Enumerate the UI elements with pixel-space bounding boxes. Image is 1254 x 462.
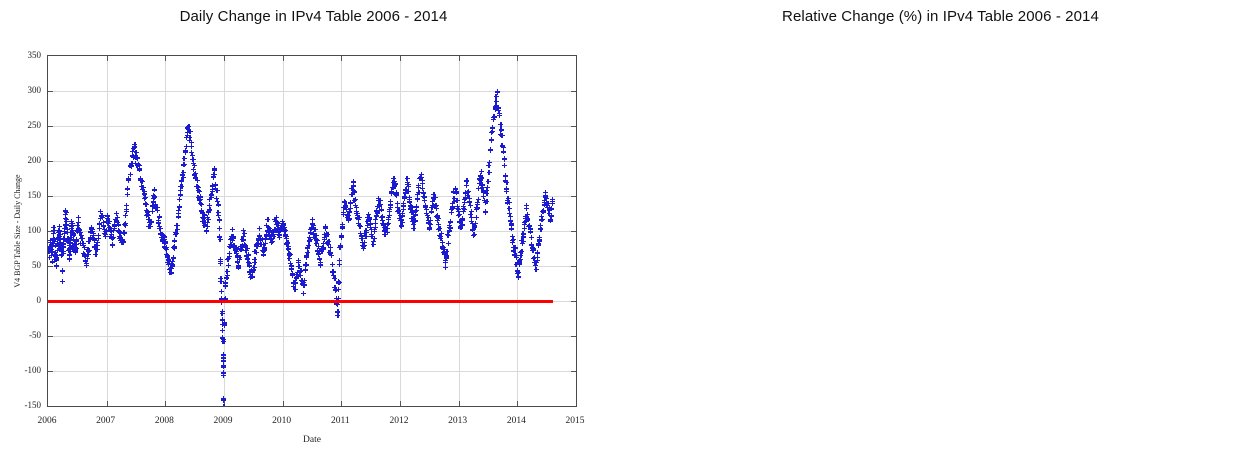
gridline-vertical [517, 56, 518, 406]
x-tick-label: 2007 [96, 416, 115, 426]
y-tick-mark [571, 91, 576, 92]
y-tick-mark [48, 371, 53, 372]
y-tick-mark [571, 301, 576, 302]
y-tick-mark [48, 266, 53, 267]
y-tick-mark [571, 266, 576, 267]
y-tick-label: 150 [28, 190, 42, 200]
y-tick-mark [48, 126, 53, 127]
y-tick-label: -150 [25, 400, 42, 410]
figure-page: Daily Change in IPv4 Table 2006 - 2014 V… [0, 0, 1254, 462]
x-tick-mark [341, 401, 342, 406]
y-tick-mark [48, 336, 53, 337]
y-tick-label: 250 [28, 120, 42, 130]
y-axis-title-daily-change: V4 BGP Table Size - Daily Change [13, 174, 22, 287]
y-tick-label: 300 [28, 85, 42, 95]
y-tick-label: 200 [28, 155, 42, 165]
y-tick-mark [571, 126, 576, 127]
y-tick-mark [48, 161, 53, 162]
y-tick-mark [571, 231, 576, 232]
y-tick-label: -50 [29, 330, 41, 340]
x-tick-mark [517, 56, 518, 61]
gridline-horizontal [48, 161, 576, 162]
gridline-vertical [400, 56, 401, 406]
x-tick-mark [107, 56, 108, 61]
y-tick-label: 350 [28, 50, 42, 60]
gridline-vertical [341, 56, 342, 406]
gridline-vertical [459, 56, 460, 406]
x-tick-mark [224, 56, 225, 61]
x-tick-label: 2015 [566, 416, 585, 426]
y-tick-label: 50 [32, 260, 41, 270]
y-tick-mark [48, 196, 53, 197]
x-tick-mark [517, 401, 518, 406]
gridline-horizontal [48, 126, 576, 127]
x-tick-mark [283, 401, 284, 406]
x-tick-mark [165, 56, 166, 61]
gridline-horizontal [48, 336, 576, 337]
x-tick-mark [400, 401, 401, 406]
x-tick-label: 2008 [155, 416, 174, 426]
y-tick-label: 0 [37, 295, 42, 305]
x-tick-mark [283, 56, 284, 61]
x-tick-label: 2009 [214, 416, 233, 426]
x-tick-label: 2012 [390, 416, 409, 426]
gridline-vertical [165, 56, 166, 406]
x-tick-label: 2011 [331, 416, 350, 426]
x-tick-mark [165, 401, 166, 406]
chart-panel-daily-change: Daily Change in IPv4 Table 2006 - 2014 V… [0, 0, 627, 462]
x-tick-label: 2014 [507, 416, 526, 426]
x-tick-label: 2006 [38, 416, 57, 426]
y-tick-label: -100 [25, 365, 42, 375]
gridline-horizontal [48, 371, 576, 372]
y-tick-mark [571, 196, 576, 197]
x-tick-mark [107, 401, 108, 406]
x-tick-mark [459, 56, 460, 61]
x-tick-mark [341, 56, 342, 61]
zero-reference-line [48, 300, 553, 303]
x-tick-mark [400, 56, 401, 61]
y-tick-mark [48, 231, 53, 232]
x-tick-mark [459, 401, 460, 406]
y-tick-mark [571, 371, 576, 372]
y-tick-mark [571, 336, 576, 337]
y-tick-mark [571, 161, 576, 162]
plot-area-daily-change: V4 BGP Table Size - Daily Change Date -1… [47, 55, 577, 407]
chart-title-daily-change: Daily Change in IPv4 Table 2006 - 2014 [0, 8, 627, 25]
x-tick-label: 2013 [448, 416, 467, 426]
chart-title-relative-change: Relative Change (%) in IPv4 Table 2006 -… [627, 8, 1254, 25]
plot-frame [47, 55, 577, 407]
y-tick-label: 100 [28, 225, 42, 235]
chart-panel-relative-change: Relative Change (%) in IPv4 Table 2006 -… [627, 0, 1254, 462]
x-tick-label: 2010 [272, 416, 291, 426]
y-tick-mark [48, 91, 53, 92]
x-axis-title-daily-change: Date [303, 435, 321, 445]
gridline-horizontal [48, 266, 576, 267]
